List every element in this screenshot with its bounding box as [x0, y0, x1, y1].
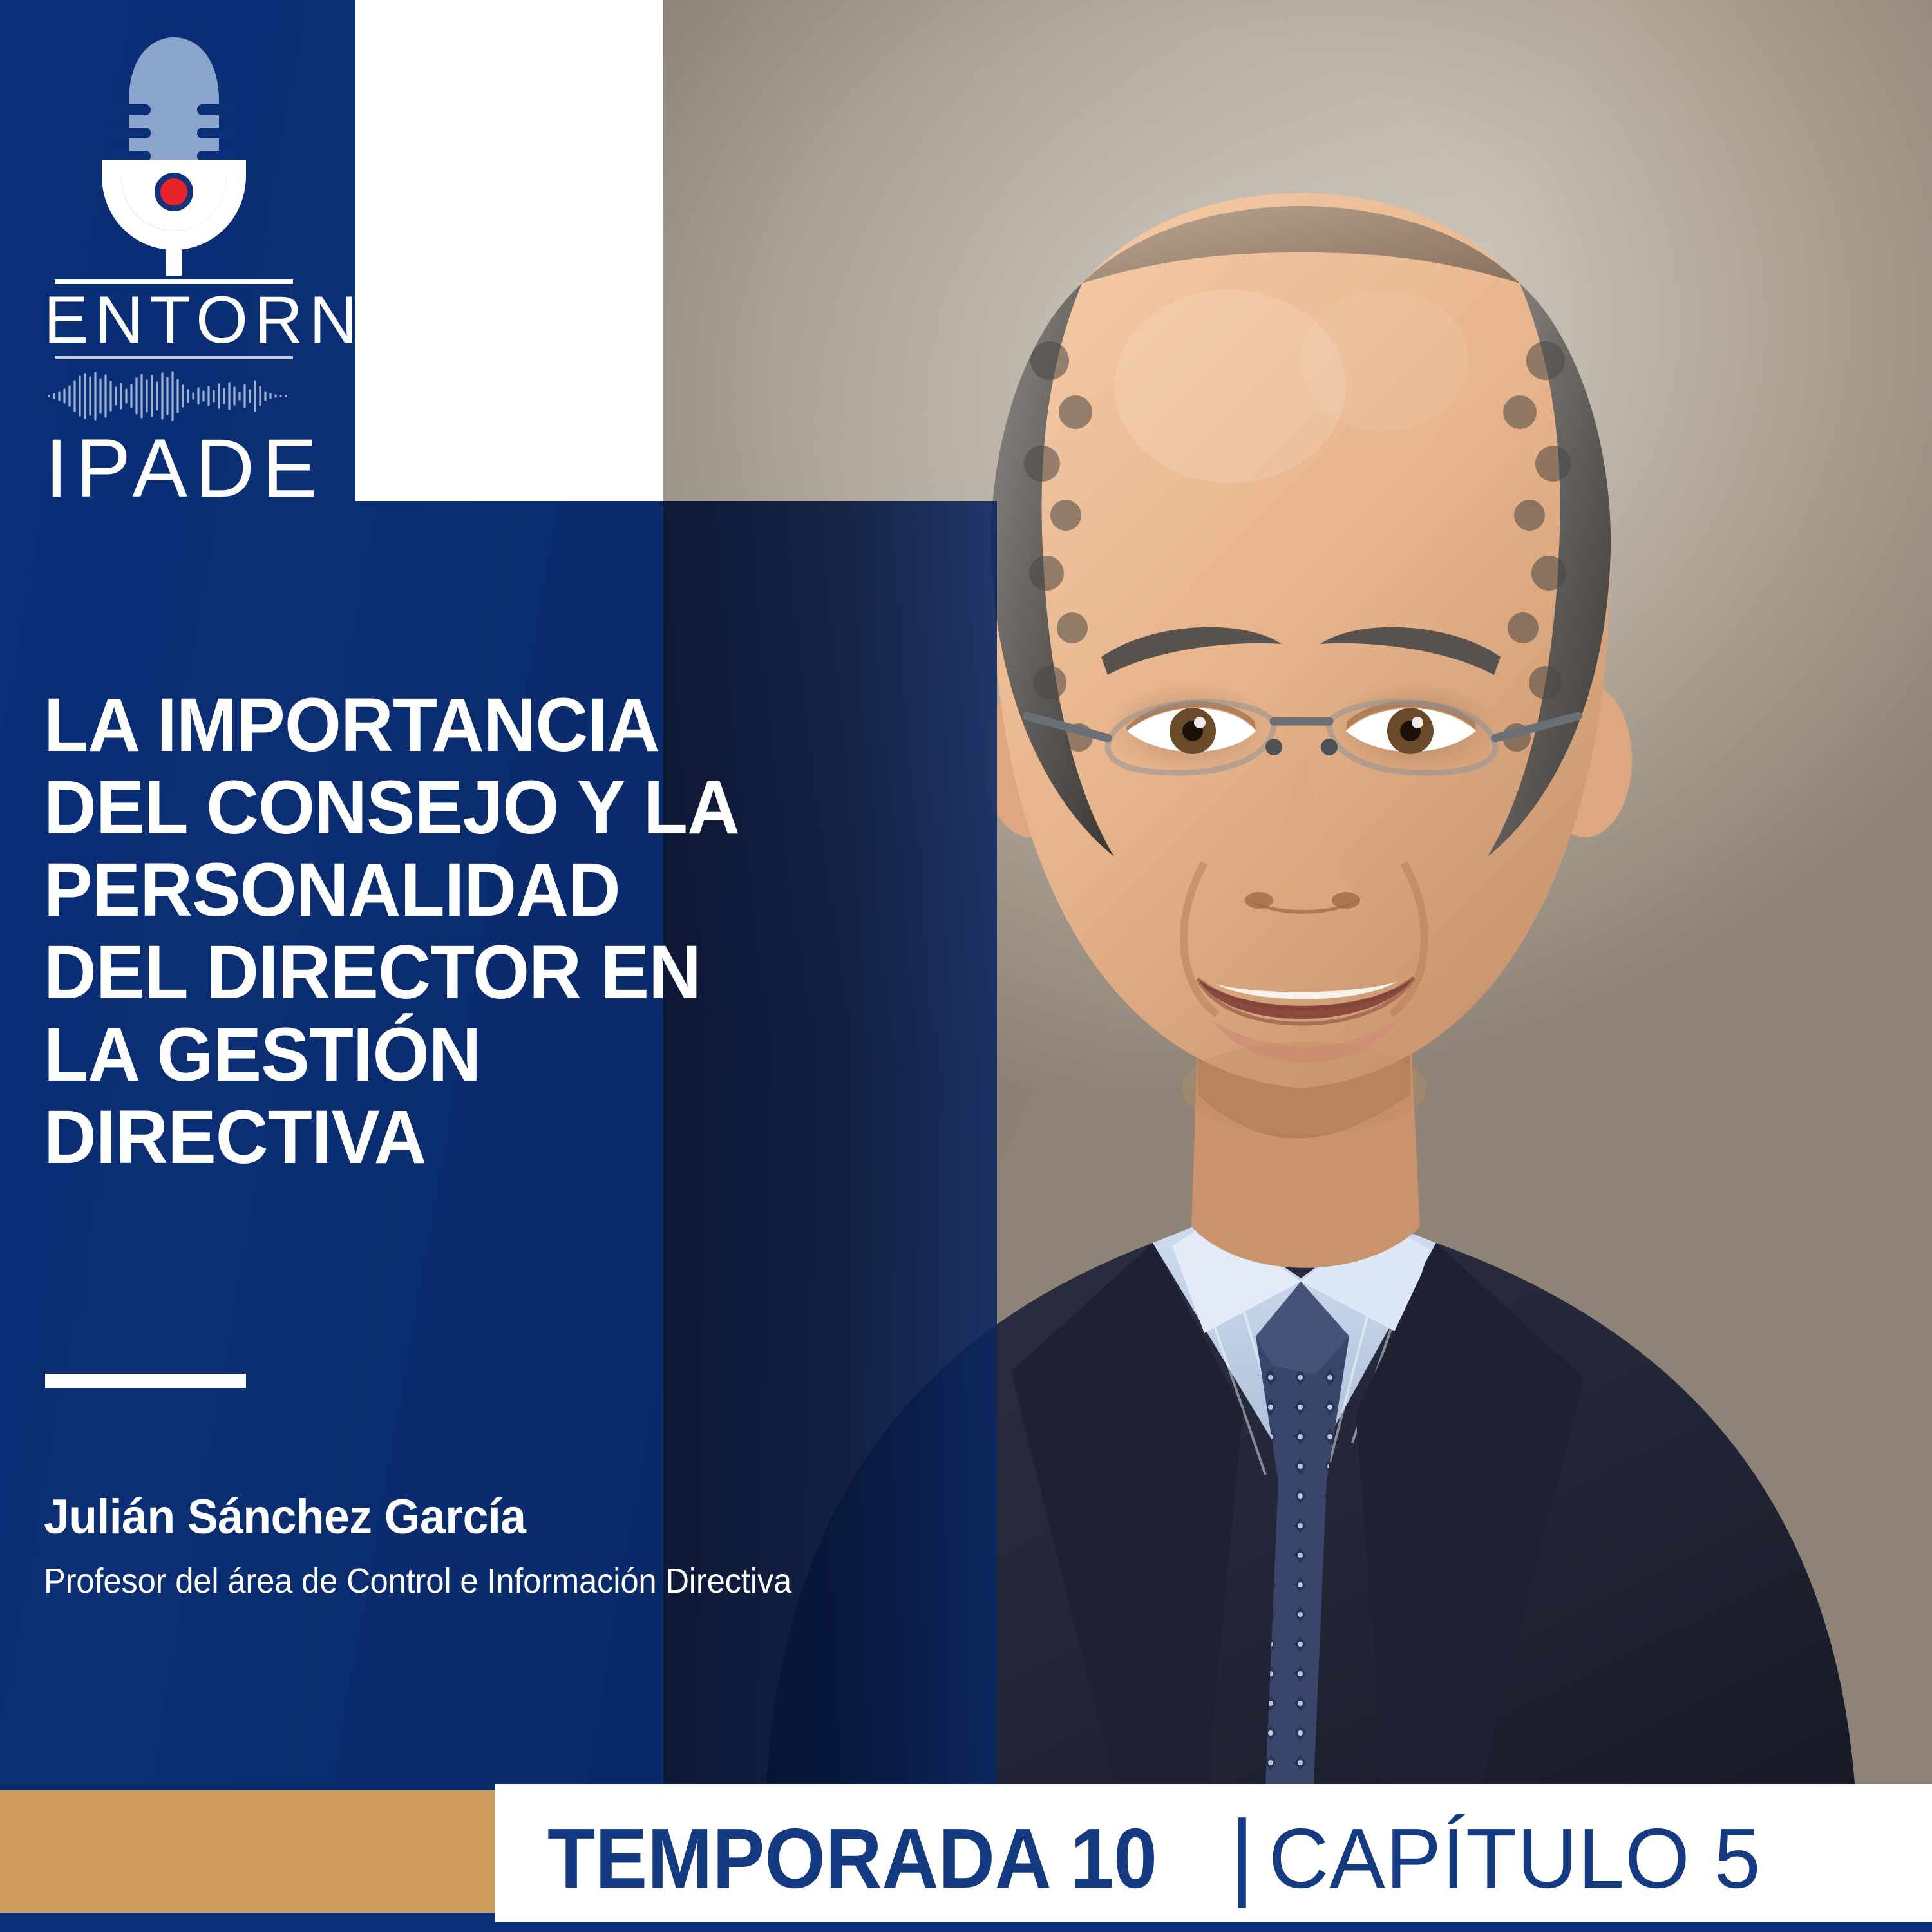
speaker-role: Profesor del área de Control e Informaci…: [44, 1561, 791, 1601]
chapter-label: CAPÍTULO 5: [1269, 1810, 1761, 1907]
episode-title: LA IMPORTANCIA DEL CONSEJO Y LA PERSONAL…: [44, 684, 945, 1179]
logo-entorno-text: ENTORNO: [39, 284, 309, 356]
title-line: LA IMPORTANCIA: [44, 684, 909, 766]
logo-ipade-text: IPADE: [39, 428, 309, 510]
title-line: PERSONALIDAD: [44, 849, 909, 931]
footer-gold-block: [0, 1790, 495, 1913]
logo-wordmark: ENTORNO: [39, 279, 309, 510]
footer-blue-strip: [0, 1913, 495, 1932]
speaker-name: Julián Sánchez García: [44, 1489, 526, 1545]
title-line: LA GESTIÓN: [44, 1014, 909, 1096]
podcast-cover: ENTORNO: [0, 0, 1932, 1932]
title-divider-rule: [45, 1374, 246, 1388]
audio-waveform-icon: [45, 368, 303, 424]
season-label: TEMPORADA 10: [547, 1810, 1157, 1907]
title-line: DEL DIRECTOR EN: [44, 931, 909, 1014]
title-line: DEL CONSEJO Y LA: [44, 766, 909, 849]
white-notch-block: [355, 0, 663, 501]
title-line: DIRECTIVA: [44, 1096, 909, 1179]
brand-logo[interactable]: ENTORNO: [39, 26, 309, 510]
episode-meta-bar: TEMPORADA 10 | CAPÍTULO 5: [528, 1784, 1893, 1932]
microphone-icon: [39, 26, 309, 283]
season-chapter-separator: |: [1229, 1811, 1255, 1898]
